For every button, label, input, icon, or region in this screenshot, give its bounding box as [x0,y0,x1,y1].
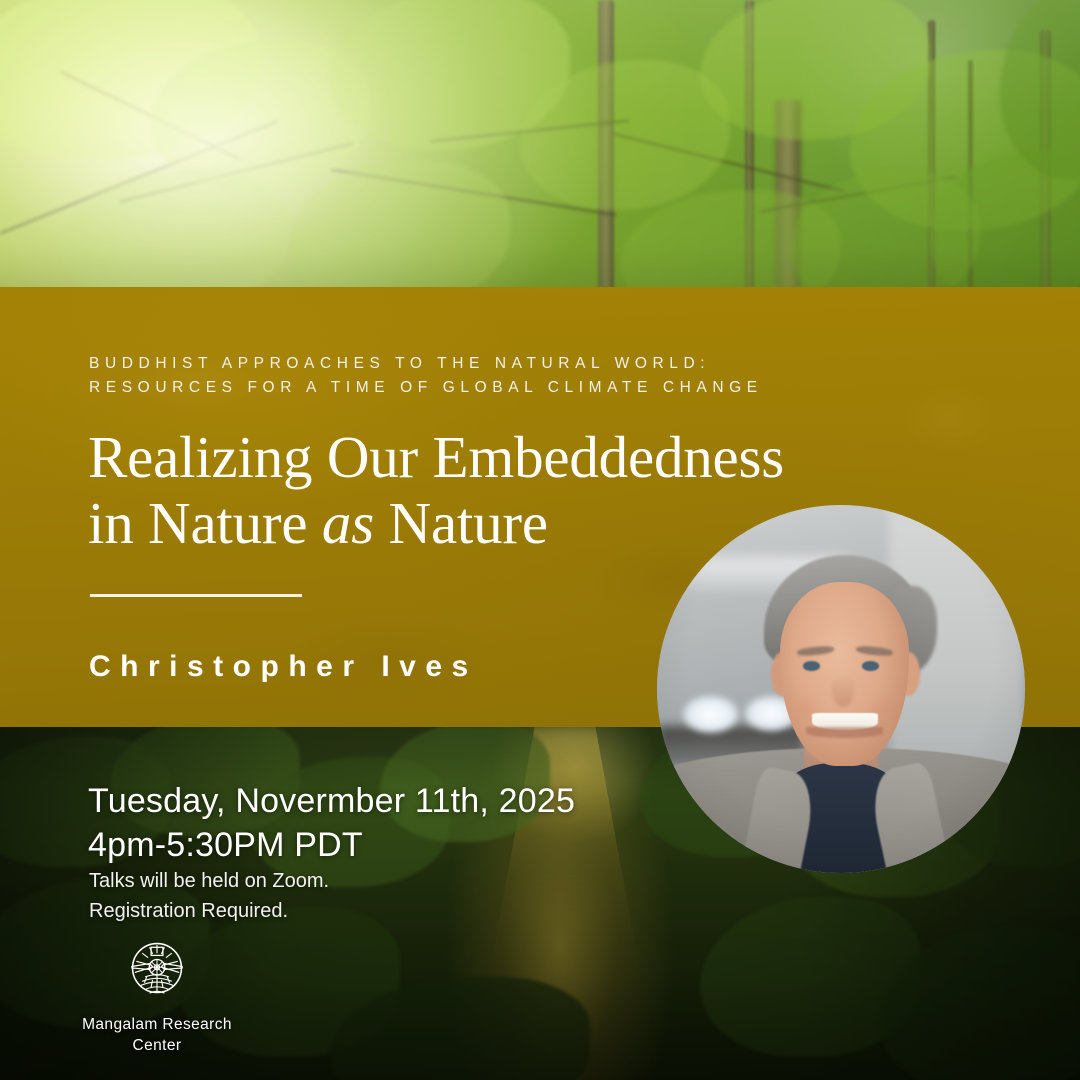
logo-caption-line-2: Center [76,1035,238,1056]
event-note-1: Talks will be held on Zoom. [89,866,329,896]
speaker-portrait [657,505,1025,873]
speaker-name: Christopher Ives [89,650,478,684]
series-eyebrow: Buddhist Approaches to the Natural World… [89,352,909,400]
event-time: 4pm-5:30PM PDT [88,823,575,867]
mangalam-emblem-icon [120,931,194,1005]
event-notes: Talks will be held on Zoom. Registration… [89,866,329,926]
forest-canopy-photo [0,0,1080,290]
title-line2-before: in Nature [88,490,322,556]
event-date: Tuesday, Novermber 11th, 2025 [88,779,575,823]
title-line2-after: Nature [374,490,548,556]
logo-caption: Mangalam Research Center [76,1014,238,1056]
series-line-2: Resources for a Time of Global Climate C… [89,376,909,400]
event-note-2: Registration Required. [89,896,329,926]
event-datetime: Tuesday, Novermber 11th, 2025 4pm-5:30PM… [88,779,575,867]
talk-title-line-1: Realizing Our Embeddedness [88,424,848,490]
organization-logo: Mangalam Research Center [76,931,238,1056]
series-line-1: Buddhist Approaches to the Natural World… [89,352,909,376]
title-line2-emphasis: as [322,490,374,556]
logo-caption-line-1: Mangalam Research [76,1014,238,1035]
event-poster: Buddhist Approaches to the Natural World… [0,0,1080,1080]
title-divider [90,594,302,597]
